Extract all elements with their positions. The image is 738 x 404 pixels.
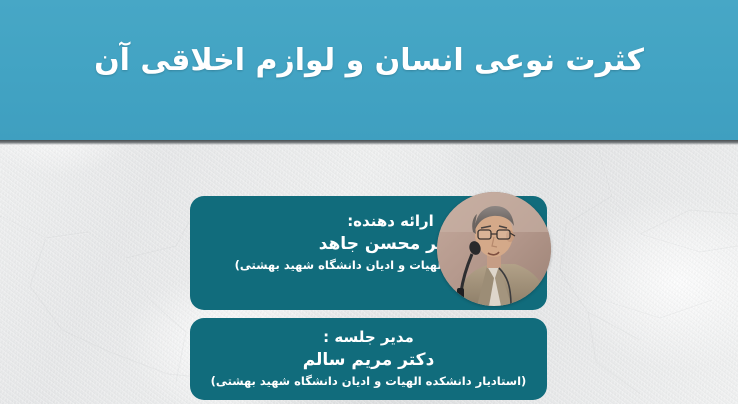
poster-root: کثرت نوعی انسان و لوازم اخلاقی آن ارائه … <box>0 0 738 404</box>
banner-drop-shadow <box>0 140 738 145</box>
moderator-role-label: مدیر جلسه : <box>190 326 547 348</box>
speaker-portrait-image <box>437 192 551 306</box>
moderator-affiliation: (استادیار دانشکده الهیات و ادیان دانشگاه… <box>190 372 547 391</box>
speaker-portrait-avatar <box>437 192 551 306</box>
moderator-name: دکتر مریم سالم <box>190 348 547 372</box>
page-title: کثرت نوعی انسان و لوازم اخلاقی آن <box>0 38 738 84</box>
moderator-info-panel: مدیر جلسه : دکتر مریم سالم (استادیار دان… <box>190 318 547 400</box>
